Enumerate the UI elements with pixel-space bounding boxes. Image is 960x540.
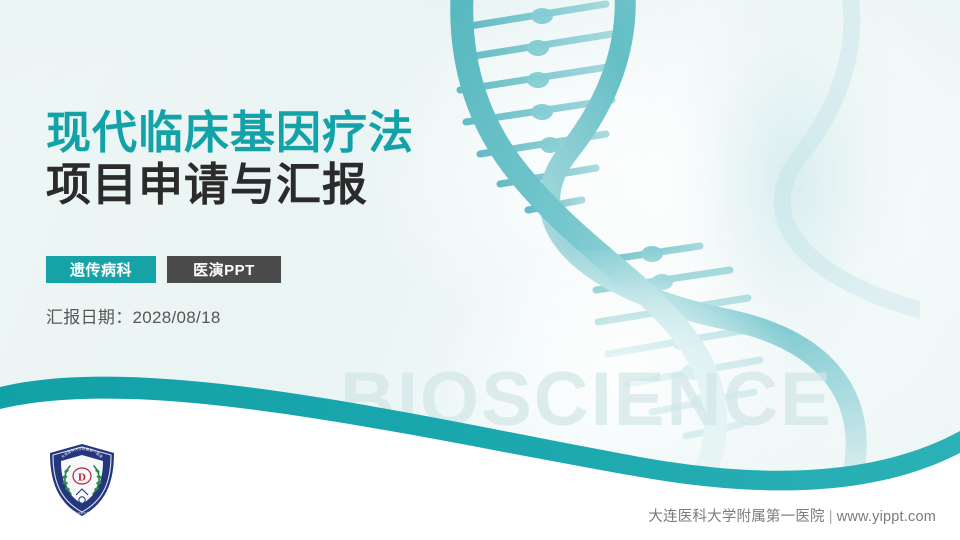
badge-group: 遗传病科 医演PPT [46,256,281,283]
report-date: 汇报日期：2028/08/18 [46,303,221,328]
footer-organization: 大连医科大学附属第一医院 [648,509,824,525]
badge-department[interactable]: 遗传病科 [46,256,156,283]
title-line-2: 项目申请与汇报 [46,160,476,210]
svg-text:D: D [78,472,86,484]
footer-website[interactable]: www.yippt.com [837,509,936,525]
footer-text: 大连医科大学附属第一医院|www.yippt.com [648,505,936,526]
title-line-1: 现代临床基因疗法 [46,108,476,158]
hospital-crest-logo: 大连医科大学附属第一医院 THE FIRST AFFILIATED HOSPIT… [46,442,118,518]
badge-template[interactable]: 医演PPT [167,256,281,283]
presentation-cover-slide: BIOSCIENCE 现代临床基因疗法 项目申请与汇报 遗传病科 医演PPT 汇… [0,0,960,540]
title-block: 现代临床基因疗法 项目申请与汇报 [46,108,476,211]
footer-separator: | [829,509,833,525]
